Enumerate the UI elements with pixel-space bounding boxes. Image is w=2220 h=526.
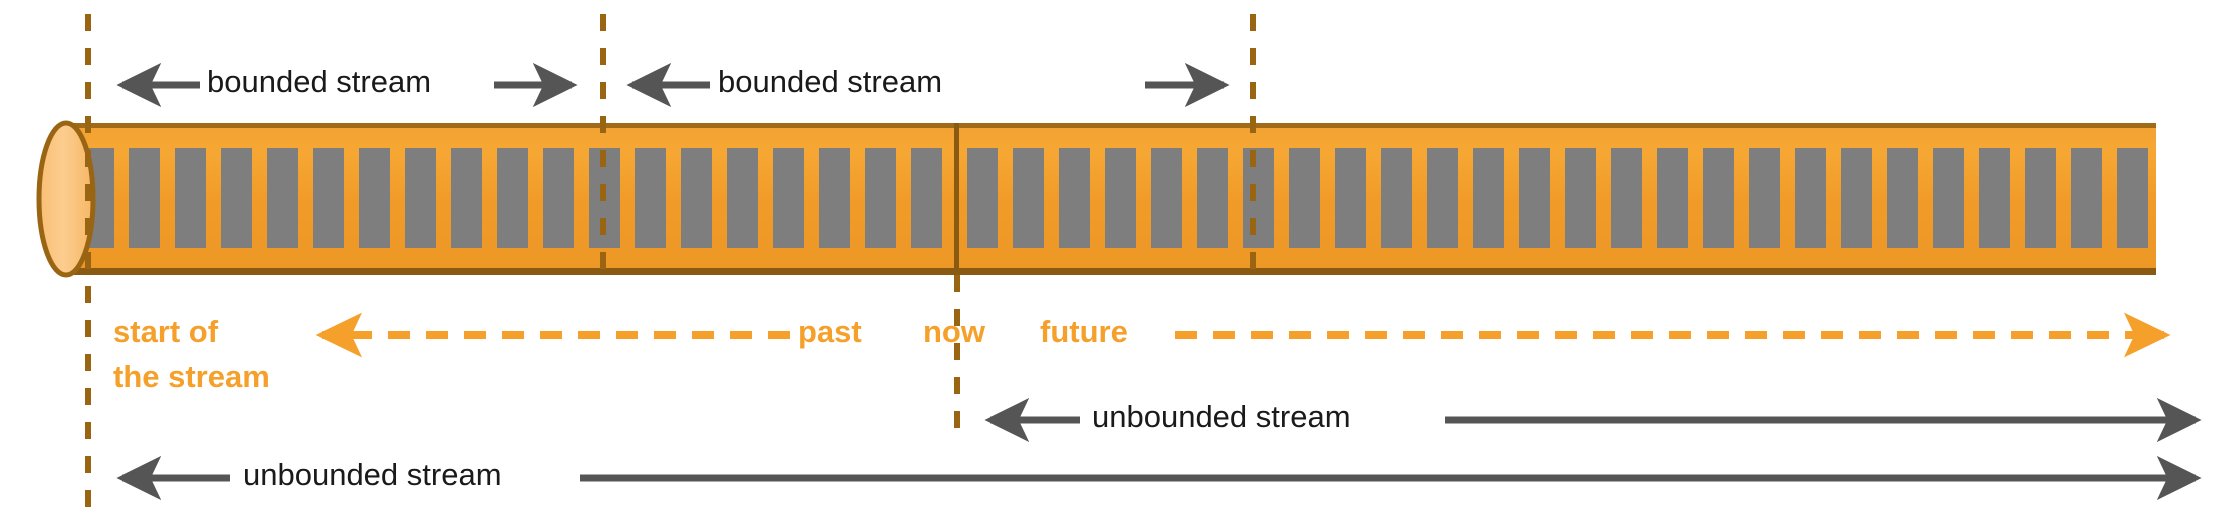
pipe-top-edge — [66, 123, 2156, 128]
stream-pipe-group — [66, 123, 2156, 275]
pipe-left-cap — [39, 123, 93, 275]
future-label: future — [1040, 314, 1128, 350]
pipe-bottom-edge — [66, 268, 2156, 275]
past-label: past — [798, 314, 862, 350]
diagram-canvas: bounded stream bounded stream start of t… — [0, 0, 2220, 526]
bounded-stream-1-label: bounded stream — [207, 64, 431, 100]
now-label: now — [923, 314, 985, 350]
now-separator-line — [954, 123, 959, 275]
bounded-stream-2-label: bounded stream — [718, 64, 942, 100]
unbounded-stream-future-label: unbounded stream — [1092, 399, 1351, 435]
start-of-stream-label-line1: start of — [113, 314, 218, 350]
unbounded-stream-all-label: unbounded stream — [243, 457, 502, 493]
start-of-stream-label-line2: the stream — [113, 359, 270, 395]
